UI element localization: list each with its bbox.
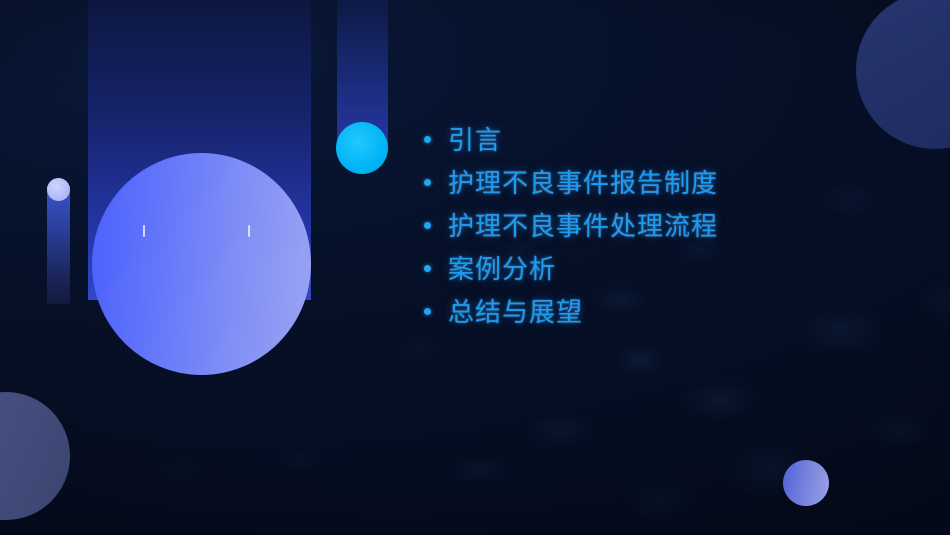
sphere-tick-left bbox=[143, 225, 145, 237]
bullet-dot-icon bbox=[424, 136, 431, 143]
decorative-circle-bottom-right bbox=[783, 460, 829, 506]
decorative-light-circle bbox=[47, 178, 70, 201]
toc-item-label: 护理不良事件报告制度 bbox=[448, 170, 718, 196]
bullet-dot-icon bbox=[424, 179, 431, 186]
toc-item-label: 引言 bbox=[448, 127, 502, 153]
toc-item[interactable]: 总结与展望 bbox=[424, 290, 894, 333]
toc-item-label: 总结与展望 bbox=[448, 299, 583, 325]
toc-item-label: 案例分析 bbox=[448, 256, 556, 282]
toc-item[interactable]: 引言 bbox=[424, 118, 894, 161]
bullet-dot-icon bbox=[424, 222, 431, 229]
toc-item-label: 护理不良事件处理流程 bbox=[448, 213, 718, 239]
decorative-thin-bar bbox=[47, 186, 70, 304]
slide-canvas: 引言 护理不良事件报告制度 护理不良事件处理流程 案例分析 总结与展望 bbox=[0, 0, 950, 535]
decorative-sphere bbox=[92, 153, 311, 375]
toc-item[interactable]: 案例分析 bbox=[424, 247, 894, 290]
bullet-dot-icon bbox=[424, 265, 431, 272]
sphere-tick-right bbox=[248, 225, 250, 237]
decorative-cyan-circle bbox=[336, 122, 388, 174]
toc-item[interactable]: 护理不良事件处理流程 bbox=[424, 204, 894, 247]
toc-item[interactable]: 护理不良事件报告制度 bbox=[424, 161, 894, 204]
table-of-contents: 引言 护理不良事件报告制度 护理不良事件处理流程 案例分析 总结与展望 bbox=[424, 118, 894, 333]
bullet-dot-icon bbox=[424, 308, 431, 315]
